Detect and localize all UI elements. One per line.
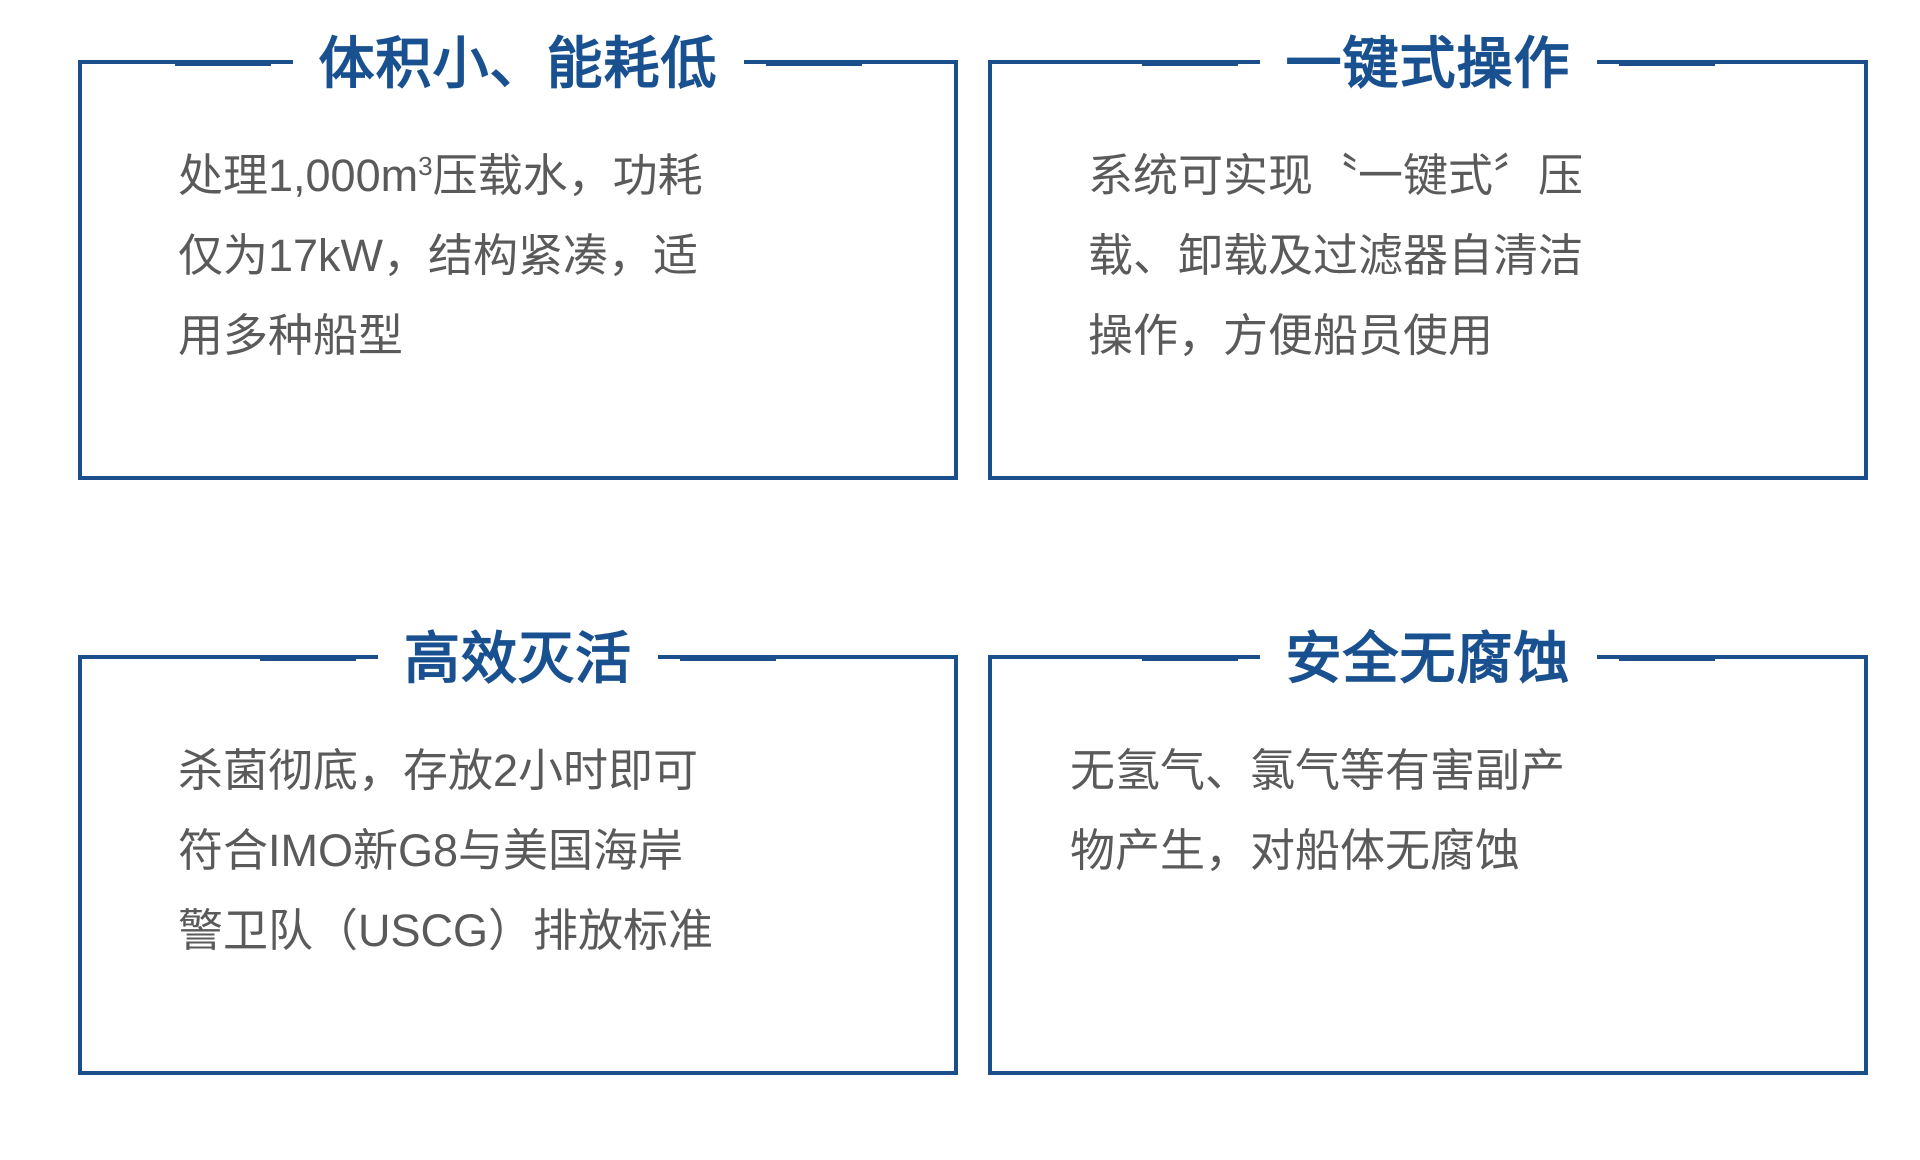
title-dash-left-icon bbox=[1142, 657, 1238, 661]
card-body-line: 符合IMO新G8与美国海岸 bbox=[178, 811, 876, 891]
card-body-line: 警卫队（USCG）排放标准 bbox=[178, 891, 876, 971]
title-dash-right-icon bbox=[766, 62, 862, 66]
title-gap: 一键式操作 bbox=[1260, 32, 1597, 96]
cubic-meter-exponent: 3 bbox=[418, 151, 432, 181]
card-body-line: 杀菌彻底，存放2小时即可 bbox=[178, 731, 876, 811]
feature-card-efficient-inactivation: 高效灭活 杀菌彻底，存放2小时即可 符合IMO新G8与美国海岸 警卫队（USCG… bbox=[78, 655, 958, 1075]
card-title-row: 一键式操作 bbox=[992, 32, 1864, 96]
card-body-line: 载、卸载及过滤器自清洁 bbox=[1088, 216, 1786, 296]
card-body-line: 处理1,000m3压载水，功耗 bbox=[178, 136, 876, 216]
card-body-line: 仅为17kW，结构紧凑，适 bbox=[178, 216, 876, 296]
title-dash-left-icon bbox=[1142, 62, 1238, 66]
title-dash-right-icon bbox=[1619, 657, 1715, 661]
card-body-text: 系统可实现〝一键式〞压 载、卸载及过滤器自清洁 操作，方便船员使用 bbox=[992, 136, 1864, 376]
title-dash-left-icon bbox=[260, 657, 356, 661]
card-body-line: 用多种船型 bbox=[178, 296, 876, 376]
card-body-text: 杀菌彻底，存放2小时即可 符合IMO新G8与美国海岸 警卫队（USCG）排放标准 bbox=[82, 731, 954, 971]
card-body-text: 处理1,000m3压载水，功耗 仅为17kW，结构紧凑，适 用多种船型 bbox=[82, 136, 954, 376]
card-title: 体积小、能耗低 bbox=[319, 32, 718, 96]
card-body-line-suffix: 压载水，功耗 bbox=[433, 150, 703, 201]
card-title: 一键式操作 bbox=[1286, 32, 1571, 96]
card-title: 安全无腐蚀 bbox=[1286, 627, 1571, 691]
card-title: 高效灭活 bbox=[404, 627, 632, 691]
feature-card-one-key-operation: 一键式操作 系统可实现〝一键式〞压 载、卸载及过滤器自清洁 操作，方便船员使用 bbox=[988, 60, 1868, 480]
feature-cards-board: 体积小、能耗低 处理1,000m3压载水，功耗 仅为17kW，结构紧凑，适 用多… bbox=[0, 0, 1920, 1160]
title-gap: 高效灭活 bbox=[378, 627, 658, 691]
card-body-text: 无氢气、氯气等有害副产 物产生，对船体无腐蚀 bbox=[992, 731, 1864, 891]
card-body-line: 系统可实现〝一键式〞压 bbox=[1088, 136, 1786, 216]
feature-card-safe-non-corrosive: 安全无腐蚀 无氢气、氯气等有害副产 物产生，对船体无腐蚀 bbox=[988, 655, 1868, 1075]
card-body-line: 无氢气、氯气等有害副产 bbox=[1070, 731, 1786, 811]
card-body-line-prefix: 处理1,000m bbox=[178, 150, 418, 201]
card-body-line: 操作，方便船员使用 bbox=[1088, 296, 1786, 376]
title-dash-right-icon bbox=[680, 657, 776, 661]
title-gap: 体积小、能耗低 bbox=[293, 32, 744, 96]
title-dash-left-icon bbox=[175, 62, 271, 66]
title-gap: 安全无腐蚀 bbox=[1260, 627, 1597, 691]
card-body-line: 物产生，对船体无腐蚀 bbox=[1070, 811, 1786, 891]
card-title-row: 体积小、能耗低 bbox=[82, 32, 954, 96]
feature-card-compact-low-power: 体积小、能耗低 处理1,000m3压载水，功耗 仅为17kW，结构紧凑，适 用多… bbox=[78, 60, 958, 480]
card-title-row: 高效灭活 bbox=[82, 627, 954, 691]
feature-cards-grid: 体积小、能耗低 处理1,000m3压载水，功耗 仅为17kW，结构紧凑，适 用多… bbox=[78, 60, 1868, 1105]
title-dash-right-icon bbox=[1619, 62, 1715, 66]
card-title-row: 安全无腐蚀 bbox=[992, 627, 1864, 691]
